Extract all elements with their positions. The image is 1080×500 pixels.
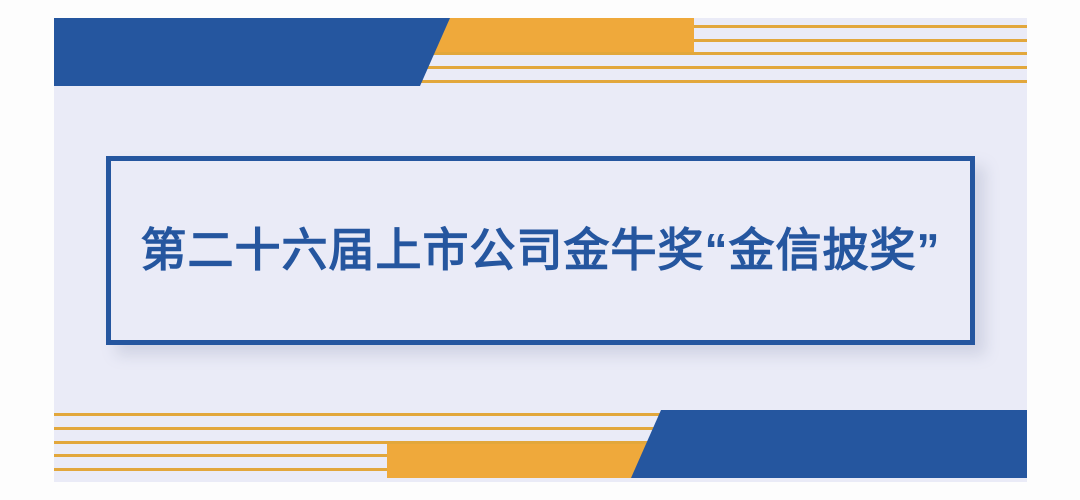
page-title: 第二十六届上市公司金牛奖“金信披奖” bbox=[141, 223, 941, 278]
bottom-banner-decoration bbox=[54, 410, 1027, 478]
slide-canvas: 第二十六届上市公司金牛奖“金信披奖” bbox=[0, 0, 1080, 500]
title-box: 第二十六届上市公司金牛奖“金信披奖” bbox=[106, 156, 975, 345]
top-banner-decoration bbox=[54, 18, 1027, 86]
